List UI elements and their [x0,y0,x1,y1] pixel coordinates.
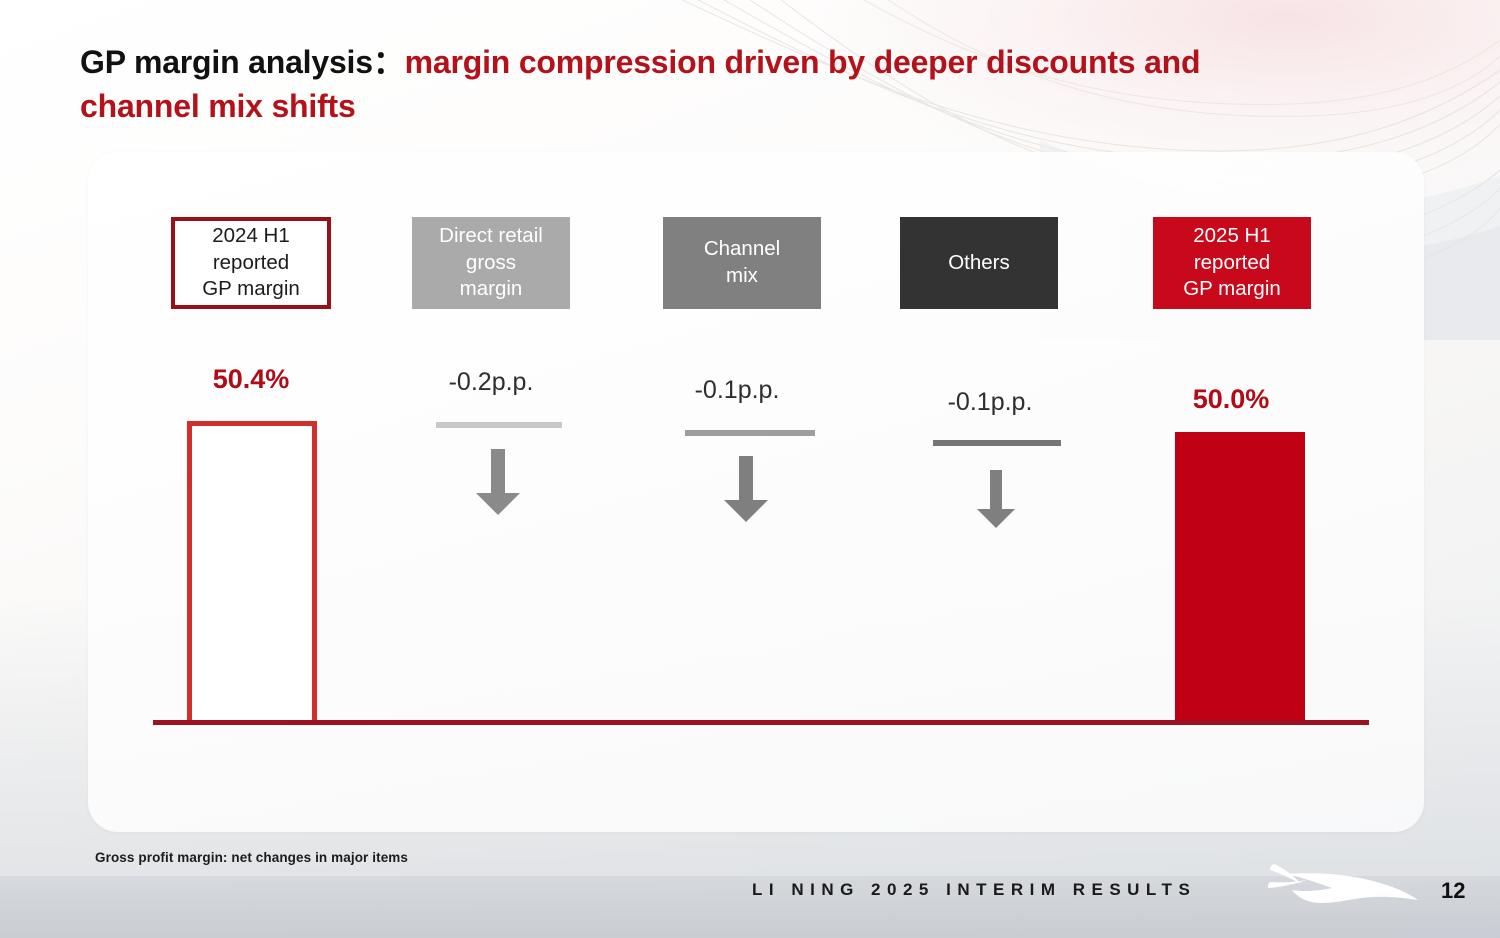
category-box-2024-h1-reported-gp-margin[interactable]: 2024 H1 reported GP margin [171,217,331,309]
connector-bar-channel-mix [685,430,815,436]
page-title-black-part: GP margin analysis： [80,44,405,80]
category-label-2024-h1: 2024 H1 reported GP margin [202,223,300,303]
value-label-direct-retail: -0.2p.p. [412,368,570,397]
category-box-direct-retail-gross-margin[interactable]: Direct retail gross margin [412,217,570,309]
connector-bar-others [933,440,1061,446]
category-box-2025-h1-reported-gp-margin[interactable]: 2025 H1 reported GP margin [1153,217,1311,309]
category-label-channel-mix: Channel mix [704,236,780,289]
chart-baseline [153,720,1369,725]
li-ning-swoosh-icon [1268,862,1418,916]
category-box-others[interactable]: Others [900,217,1058,309]
bar-2025-h1-reported-gp-margin[interactable] [1175,432,1305,725]
category-label-direct-retail: Direct retail gross margin [439,223,543,303]
value-label-others: -0.1p.p. [911,388,1069,417]
connector-bar-direct-retail [436,422,562,428]
category-label-others: Others [948,250,1010,277]
category-box-channel-mix[interactable]: Channel mix [663,217,821,309]
value-label-channel-mix: -0.1p.p. [658,376,816,405]
value-label-2025-h1: 50.0% [1151,384,1311,415]
bar-2024-h1-reported-gp-margin[interactable] [187,421,317,725]
gp-margin-waterfall-chart: 2024 H1 reported GP margin Direct retail… [88,152,1424,832]
value-label-2024-h1: 50.4% [171,364,331,395]
category-label-2025-h1: 2025 H1 reported GP margin [1183,223,1281,303]
down-arrow-channel-mix [722,456,770,522]
down-arrow-direct-retail [474,449,522,515]
page-number: 12 [1441,878,1465,904]
chart-footnote: Gross profit margin: net changes in majo… [95,850,408,865]
page-title: GP margin analysis：margin compression dr… [80,40,1300,128]
footer-brand-text: LI NING 2025 INTERIM RESULTS [752,880,1196,900]
slide-root: GP margin analysis：margin compression dr… [0,0,1500,938]
down-arrow-others [974,470,1018,528]
